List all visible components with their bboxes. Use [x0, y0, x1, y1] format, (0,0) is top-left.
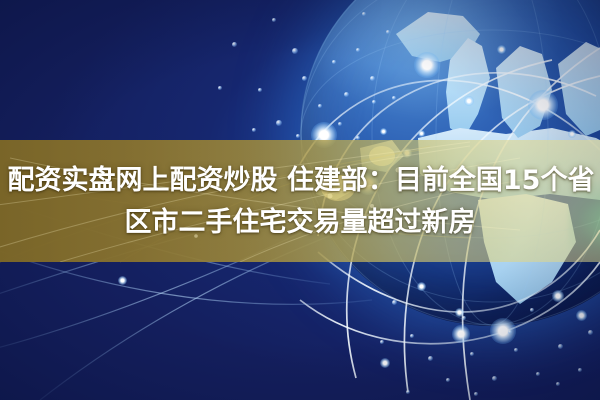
headline-line-1: 配资实盘网上配资炒股 住建部：目前全国15个省	[0, 160, 600, 202]
cover-image: 配资实盘网上配资炒股 住建部：目前全国15个省 区市二手住宅交易量超过新房	[0, 0, 600, 400]
page-title: 配资实盘网上配资炒股 住建部：目前全国15个省 区市二手住宅交易量超过新房	[0, 160, 600, 244]
headline-line-2: 区市二手住宅交易量超过新房	[0, 202, 600, 244]
